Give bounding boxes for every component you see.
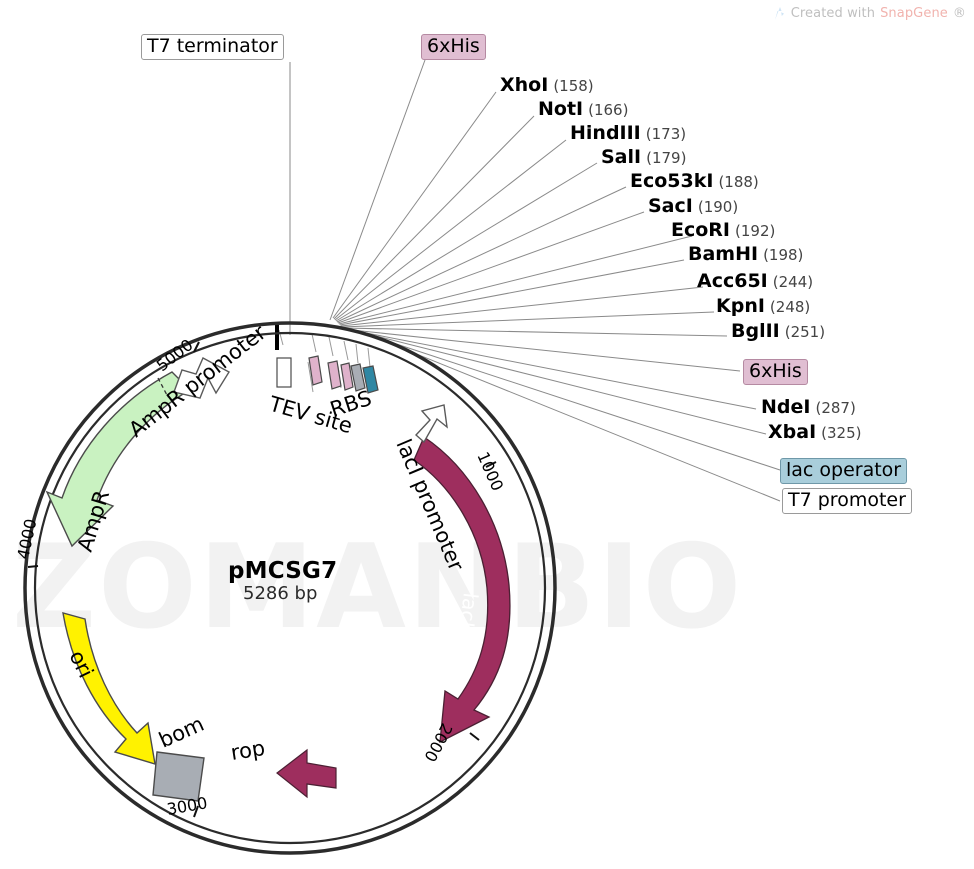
enzyme-name: BamHI — [688, 243, 758, 265]
enzyme-position: (192) — [735, 222, 775, 240]
enzyme-row-acc65i[interactable]: Acc65I(244) — [697, 270, 813, 292]
feature-label-rbs: RBS — [327, 386, 374, 422]
feature-arrow-laci-promoter — [416, 405, 447, 442]
feature-label-rop: rop — [229, 736, 267, 765]
tick-label-1000: 1000 — [473, 449, 507, 494]
callout-t7-promoter[interactable]: T7 promoter — [782, 488, 912, 514]
enzyme-position: (198) — [763, 246, 803, 264]
enzyme-row-hindiii[interactable]: HindIII(173) — [570, 122, 686, 144]
enzyme-position: (244) — [773, 273, 813, 291]
callout-lac-operator[interactable]: lac operator — [780, 458, 907, 484]
enzyme-name: XbaI — [768, 421, 816, 443]
enzyme-row-kpni[interactable]: KpnI(248) — [716, 295, 810, 317]
enzyme-position: (190) — [698, 198, 738, 216]
enzyme-row-saci[interactable]: SacI(190) — [648, 195, 738, 217]
enzyme-name: SalI — [601, 146, 641, 168]
enzyme-position: (158) — [553, 77, 593, 95]
enzyme-row-bamhi[interactable]: BamHI(198) — [688, 243, 803, 265]
enzyme-row-eco53ki[interactable]: Eco53kI(188) — [630, 170, 759, 192]
enzyme-name: HindIII — [570, 122, 641, 144]
plasmid-name: pMCSG7 — [228, 558, 337, 584]
feature-box-bom — [153, 752, 204, 801]
enzyme-name: Eco53kI — [630, 170, 713, 192]
feature-arrow-ori — [63, 613, 155, 764]
enzyme-name: NotI — [538, 98, 583, 120]
callout-t7-terminator[interactable]: T7 terminator — [141, 34, 284, 60]
tick-label-2000: 2000 — [420, 720, 456, 765]
callout-6xhis-lower[interactable]: 6xHis — [743, 359, 808, 385]
enzyme-position: (248) — [770, 298, 810, 316]
enzyme-row-ndei[interactable]: NdeI(287) — [761, 396, 856, 418]
plasmid-map-canvas: ZOMANBIO Created with SnapGene® — [0, 0, 974, 869]
enzyme-position: (173) — [646, 125, 686, 143]
enzyme-name: NdeI — [761, 396, 810, 418]
enzyme-position: (287) — [815, 399, 855, 417]
enzyme-position: (179) — [646, 149, 686, 167]
enzyme-row-xbai[interactable]: XbaI(325) — [768, 421, 861, 443]
feature-box-t7-terminator — [277, 358, 291, 387]
enzyme-name: XhoI — [500, 74, 548, 96]
feature-box-tev-site — [328, 361, 341, 389]
feature-label-laci: lacI — [455, 591, 483, 628]
enzyme-name: KpnI — [716, 295, 765, 317]
enzyme-row-noti[interactable]: NotI(166) — [538, 98, 628, 120]
enzyme-name: SacI — [648, 195, 693, 217]
enzyme-name: EcoRI — [671, 219, 730, 241]
enzyme-position: (166) — [588, 101, 628, 119]
callout-6xhis-top[interactable]: 6xHis — [421, 34, 486, 60]
enzyme-position: (325) — [821, 424, 861, 442]
enzyme-name: BglII — [731, 320, 780, 342]
feature-label-bom: bom — [155, 712, 207, 753]
feature-arrow-rop — [277, 750, 336, 797]
enzyme-position: (251) — [785, 323, 825, 341]
enzyme-row-bglii[interactable]: BglII(251) — [731, 320, 825, 342]
enzyme-name: Acc65I — [697, 270, 768, 292]
enzyme-row-xhoi[interactable]: XhoI(158) — [500, 74, 594, 96]
plasmid-size: 5286 bp — [243, 583, 317, 604]
enzyme-row-ecori[interactable]: EcoRI(192) — [671, 219, 775, 241]
enzyme-row-sali[interactable]: SalI(179) — [601, 146, 686, 168]
enzyme-position: (188) — [718, 173, 758, 191]
